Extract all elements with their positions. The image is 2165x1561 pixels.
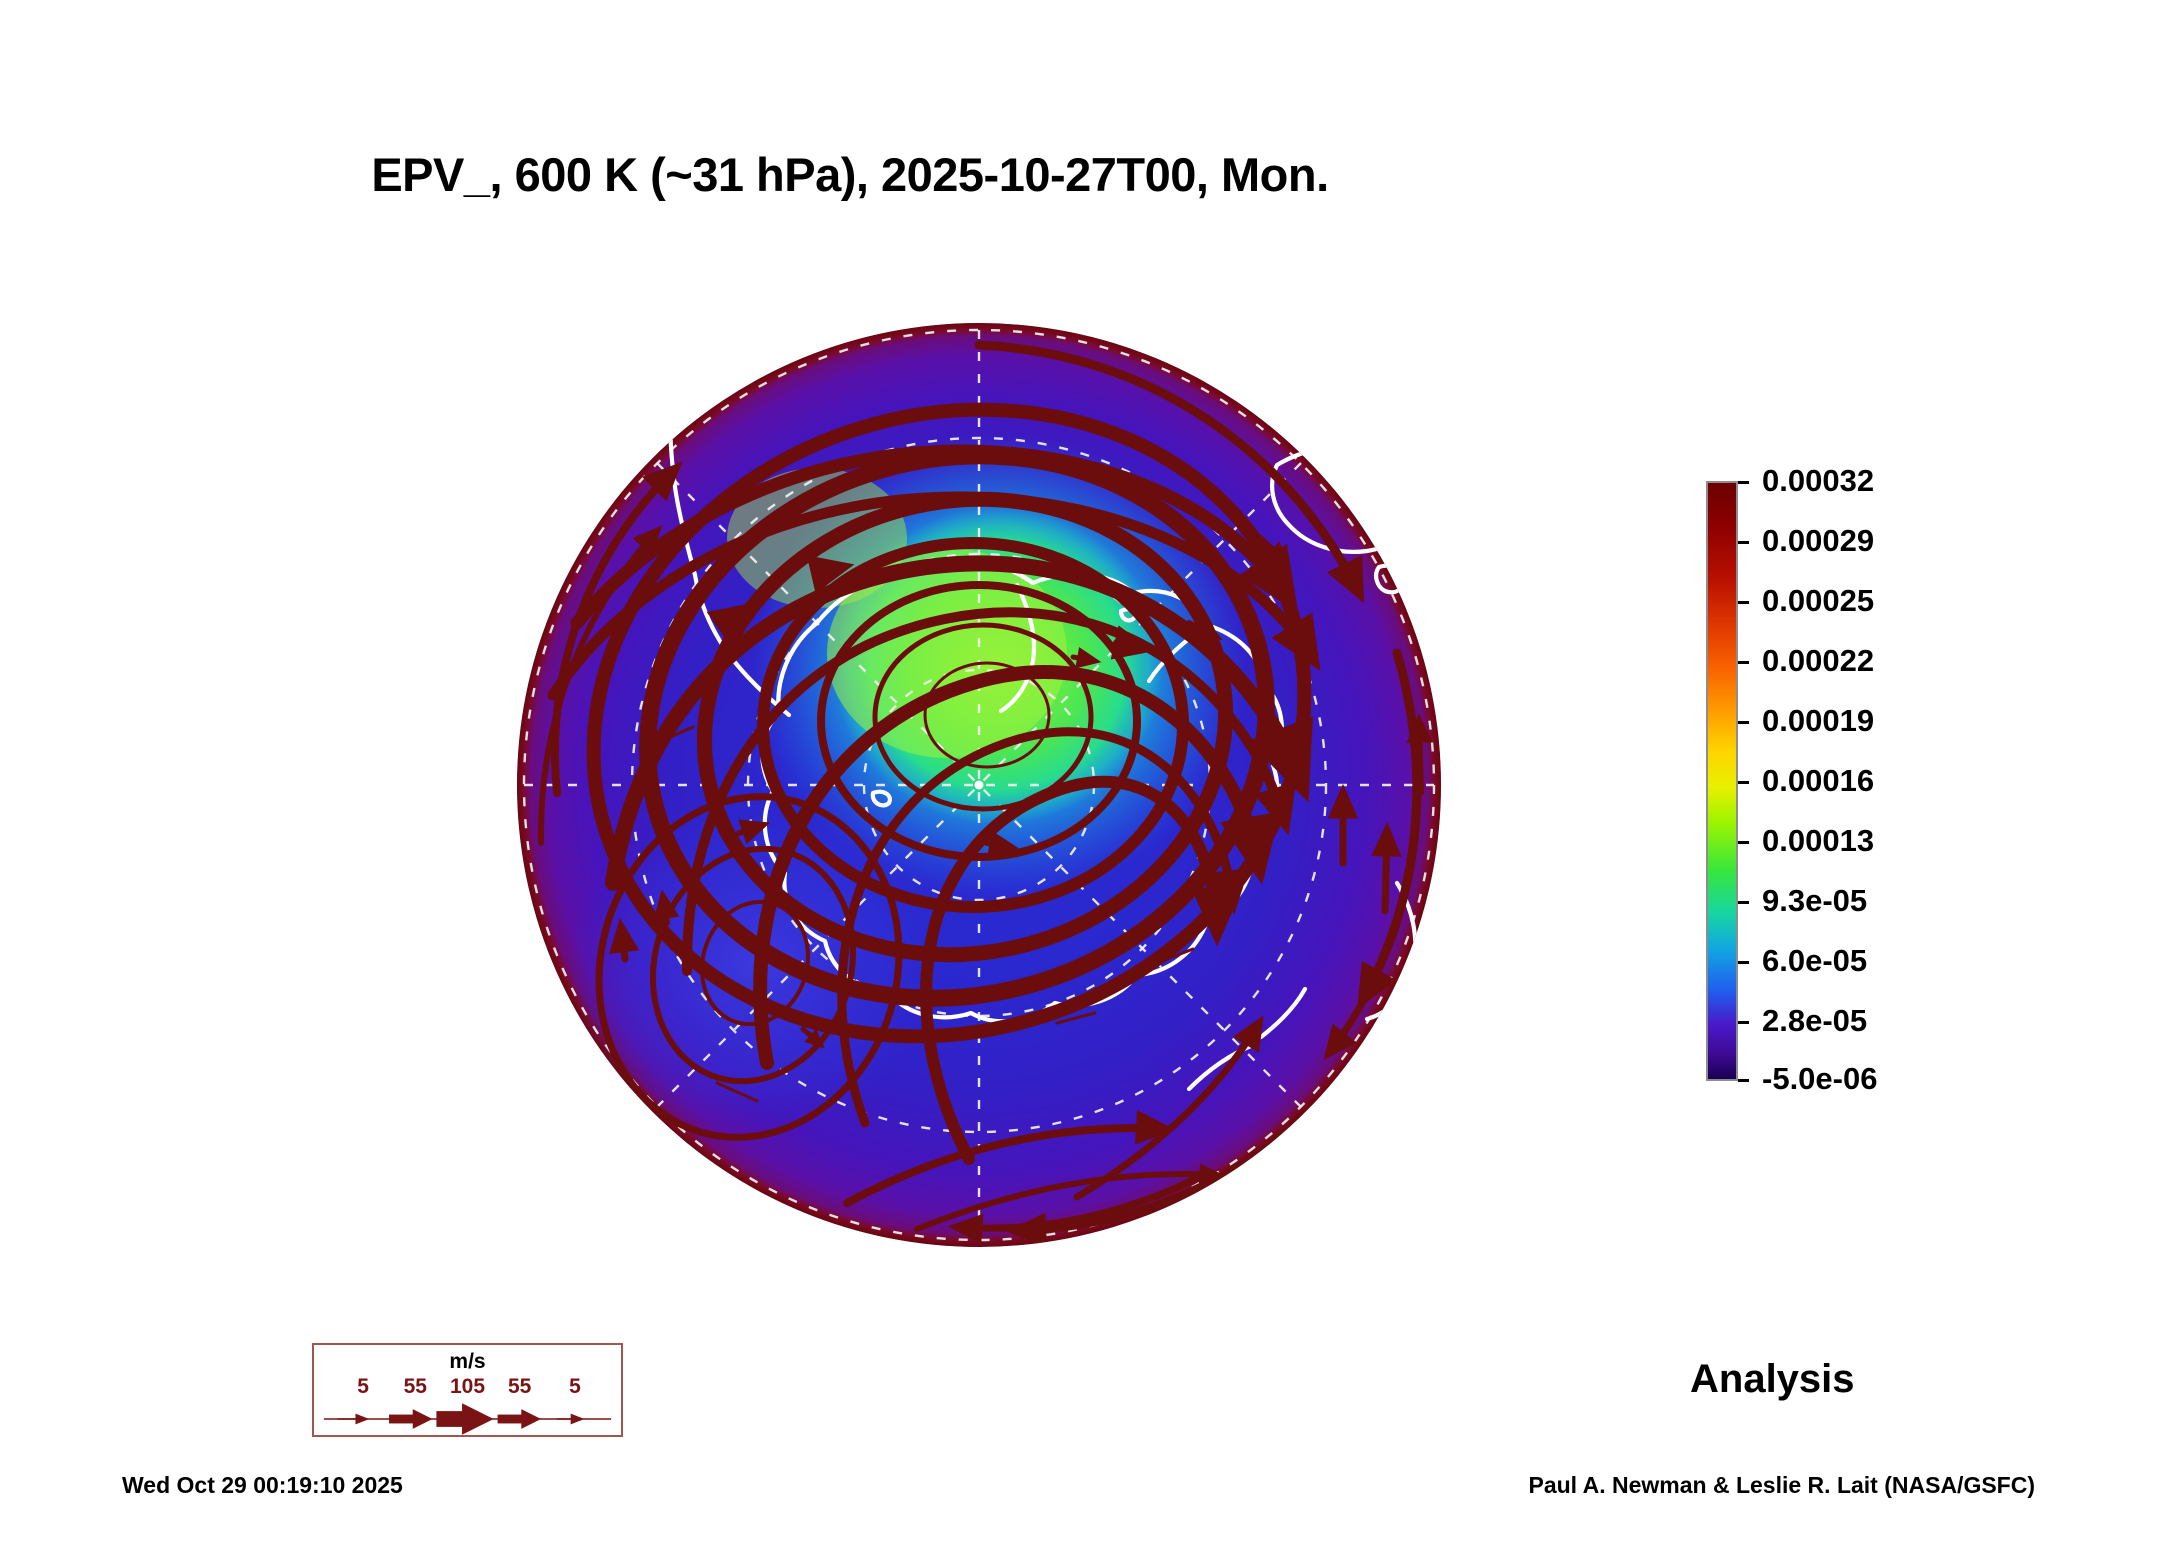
colorbar-tick [1738,601,1749,604]
colorbar-tick [1738,481,1749,484]
colorbar-tick [1738,1021,1749,1024]
colorbar-tick [1738,721,1749,724]
colorbar-tick [1738,781,1749,784]
analysis-label: Analysis [1690,1357,1855,1402]
colorbar-gradient [1706,481,1738,1081]
colorbar-label: 6.0e-05 [1762,943,1867,979]
wind-legend-value: 5 [569,1375,581,1399]
colorbar-tick [1738,841,1749,844]
colorbar-label: 0.00025 [1762,583,1874,619]
south-pole-marker [975,781,984,790]
author-credit: Paul A. Newman & Leslie R. Lait (NASA/GS… [1528,1472,2035,1499]
colorbar-label: 0.00016 [1762,763,1874,799]
colorbar-label: 0.00032 [1762,463,1874,499]
map-svg [517,323,1441,1247]
colorbar-label: -5.0e-06 [1762,1061,1877,1097]
wind-legend-arrow-scale [314,1401,621,1437]
colorbar-label: 0.00029 [1762,523,1874,559]
colorbar-tick [1738,541,1749,544]
wind-legend-value: 105 [450,1375,485,1399]
colorbar-label: 0.00013 [1762,823,1874,859]
wind-legend-value: 5 [357,1375,369,1399]
wind-legend-unit-label: m/s [314,1350,621,1374]
colorbar-tick [1738,901,1749,904]
map-disk[interactable] [517,323,1441,1247]
page-title: EPV_, 600 K (~31 hPa), 2025-10-27T00, Mo… [0,147,1700,202]
colorbar-label: 0.00022 [1762,643,1874,679]
wind-legend-values: 5 55 105 55 5 [314,1375,621,1401]
colorbar-label: 0.00019 [1762,703,1874,739]
colorbar-tick [1738,1079,1749,1082]
wind-legend-value: 55 [404,1375,427,1399]
colorbar-label: 9.3e-05 [1762,883,1867,919]
colorbar-tick [1738,961,1749,964]
polar-map[interactable] [517,323,1441,1247]
render-timestamp: Wed Oct 29 00:19:10 2025 [122,1472,403,1499]
wind-speed-legend: m/s 5 55 105 55 5 [312,1343,623,1437]
epv-field [517,323,1441,1247]
colorbar-label: 2.8e-05 [1762,1003,1867,1039]
wind-legend-value: 55 [508,1375,531,1399]
wind-arrow-svg [314,1401,621,1437]
colorbar-tick [1738,661,1749,664]
